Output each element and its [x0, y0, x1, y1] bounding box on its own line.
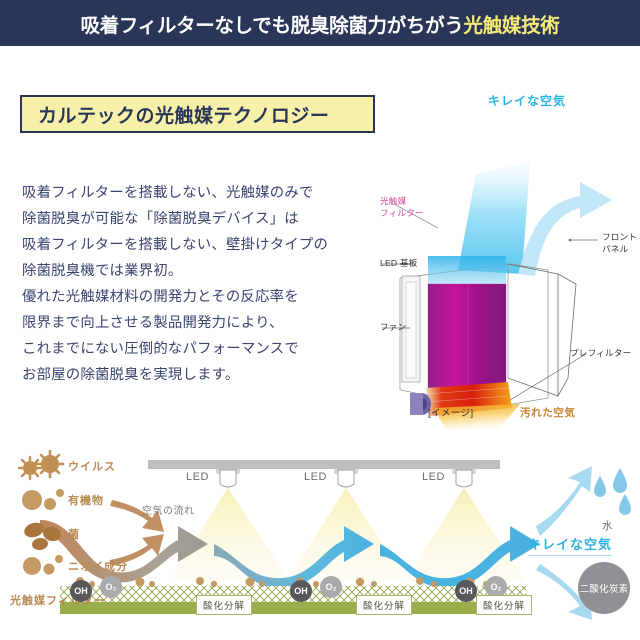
- led-label-1: LED: [186, 471, 209, 483]
- body-line: 吸着フィルターを搭載しない、光触媒のみで: [22, 180, 382, 206]
- water-label: 水: [602, 518, 613, 533]
- device-label-front-panel-line1: フロント: [602, 232, 637, 243]
- front-panel-outline: [508, 264, 558, 396]
- section-banner-label: カルテックの光触媒テクノロジー: [38, 101, 329, 128]
- fan-housing: [410, 393, 423, 415]
- led-bar: [148, 460, 500, 469]
- odor-component-icon: [23, 555, 63, 575]
- device-cutaway-diagram: キレイな空気 光触媒 フィルター LED 基板 ファン フロント パネル プレフ…: [380, 78, 640, 430]
- body-line: 除菌脱臭機では業界初。: [22, 258, 382, 284]
- photocatalyst-filter-block: [428, 284, 506, 388]
- header-bar: 吸着フィルターなしでも脱臭除菌力がちがう光触媒技術: [0, 0, 640, 46]
- clean-air-arrow: [518, 182, 612, 276]
- airflow-label: 空気の流れ: [142, 502, 195, 517]
- radical-bubble-o2: O₂: [320, 576, 342, 598]
- led-light-cone: [404, 488, 526, 582]
- device-label-photocatalyst-filter-line1: 光触媒: [380, 196, 406, 207]
- water-droplet: [619, 494, 631, 515]
- device-label-photocatalyst-filter-line2: フィルター: [380, 208, 424, 219]
- bacteria-icon: [22, 520, 62, 551]
- device-diagram-graphic: [380, 78, 640, 430]
- led-bulb: [338, 470, 354, 487]
- reaction-box-2: 酸化分解: [356, 595, 412, 615]
- reaction-box-3: 酸化分解: [476, 595, 532, 615]
- clean-air-output-label: キレイな空気: [528, 534, 612, 556]
- contaminant-label-virus: ウイルス: [68, 458, 116, 474]
- led-bulb: [456, 470, 472, 487]
- radical-bubble-oh: OH: [455, 580, 477, 602]
- clean-air-outflow-arrow-top: [536, 466, 592, 536]
- device-label-clean-air: キレイな空気: [488, 96, 566, 107]
- water-droplet: [594, 476, 606, 497]
- co2-label: 二酸化炭素: [578, 562, 630, 614]
- body-line: 優れた光触媒材料の開発力とその反応率を: [22, 284, 382, 310]
- page-title: 吸着フィルターなしでも脱臭除菌力がちがう光触媒技術: [80, 9, 559, 38]
- led-bulb: [220, 470, 236, 487]
- device-label-fan: ファン: [380, 322, 406, 333]
- body-line: お部屋の除菌脱臭を実現します。: [22, 362, 382, 388]
- device-diagram-caption: [イメージ]: [428, 408, 474, 419]
- reaction-box-1: 酸化分解: [196, 595, 252, 615]
- device-label-pre-filter: プレフィルター: [570, 348, 631, 359]
- header-title-main: 吸着フィルターなしでも脱臭除菌力がちがう: [80, 15, 463, 37]
- organic-matter-icon: [22, 489, 64, 510]
- radical-bubble-o2: O₂: [100, 576, 122, 598]
- body-line: 限界まで向上させる製品開発力により、: [22, 310, 382, 336]
- virus-icon: [19, 451, 63, 479]
- radical-bubble-oh: OH: [70, 580, 92, 602]
- device-label-led-board: LED 基板: [380, 258, 418, 269]
- body-line: 吸着フィルターを搭載しない、壁掛けタイプの: [22, 232, 382, 258]
- device-label-dirty-air: 汚れた空気: [520, 408, 576, 419]
- contaminant-label-organic: 有機物: [68, 492, 104, 508]
- contaminant-label-bacteria: 菌: [68, 526, 80, 542]
- body-line: これまでにない圧倒的なパフォーマンスで: [22, 336, 382, 362]
- header-title-highlight: 光触媒技術: [464, 15, 560, 37]
- led-label-2: LED: [304, 471, 327, 483]
- led-label-3: LED: [422, 471, 445, 483]
- radical-bubble-oh: OH: [290, 580, 312, 602]
- water-droplet: [613, 468, 627, 493]
- body-line: 除菌脱臭が可能な「除菌脱臭デバイス」は: [22, 206, 382, 232]
- section-banner: カルテックの光触媒テクノロジー: [20, 95, 375, 133]
- contaminant-label-odor: ニオイ成分: [68, 558, 128, 574]
- device-label-front-panel-line2: パネル: [602, 244, 628, 255]
- process-diagram: ウイルス 有機物 菌 ニオイ成分 光触媒フィルター 空気の流れ LED LED …: [0, 440, 640, 640]
- body-paragraph: 吸着フィルターを搭載しない、光触媒のみで 除菌脱臭が可能な「除菌脱臭デバイス」は…: [22, 180, 382, 388]
